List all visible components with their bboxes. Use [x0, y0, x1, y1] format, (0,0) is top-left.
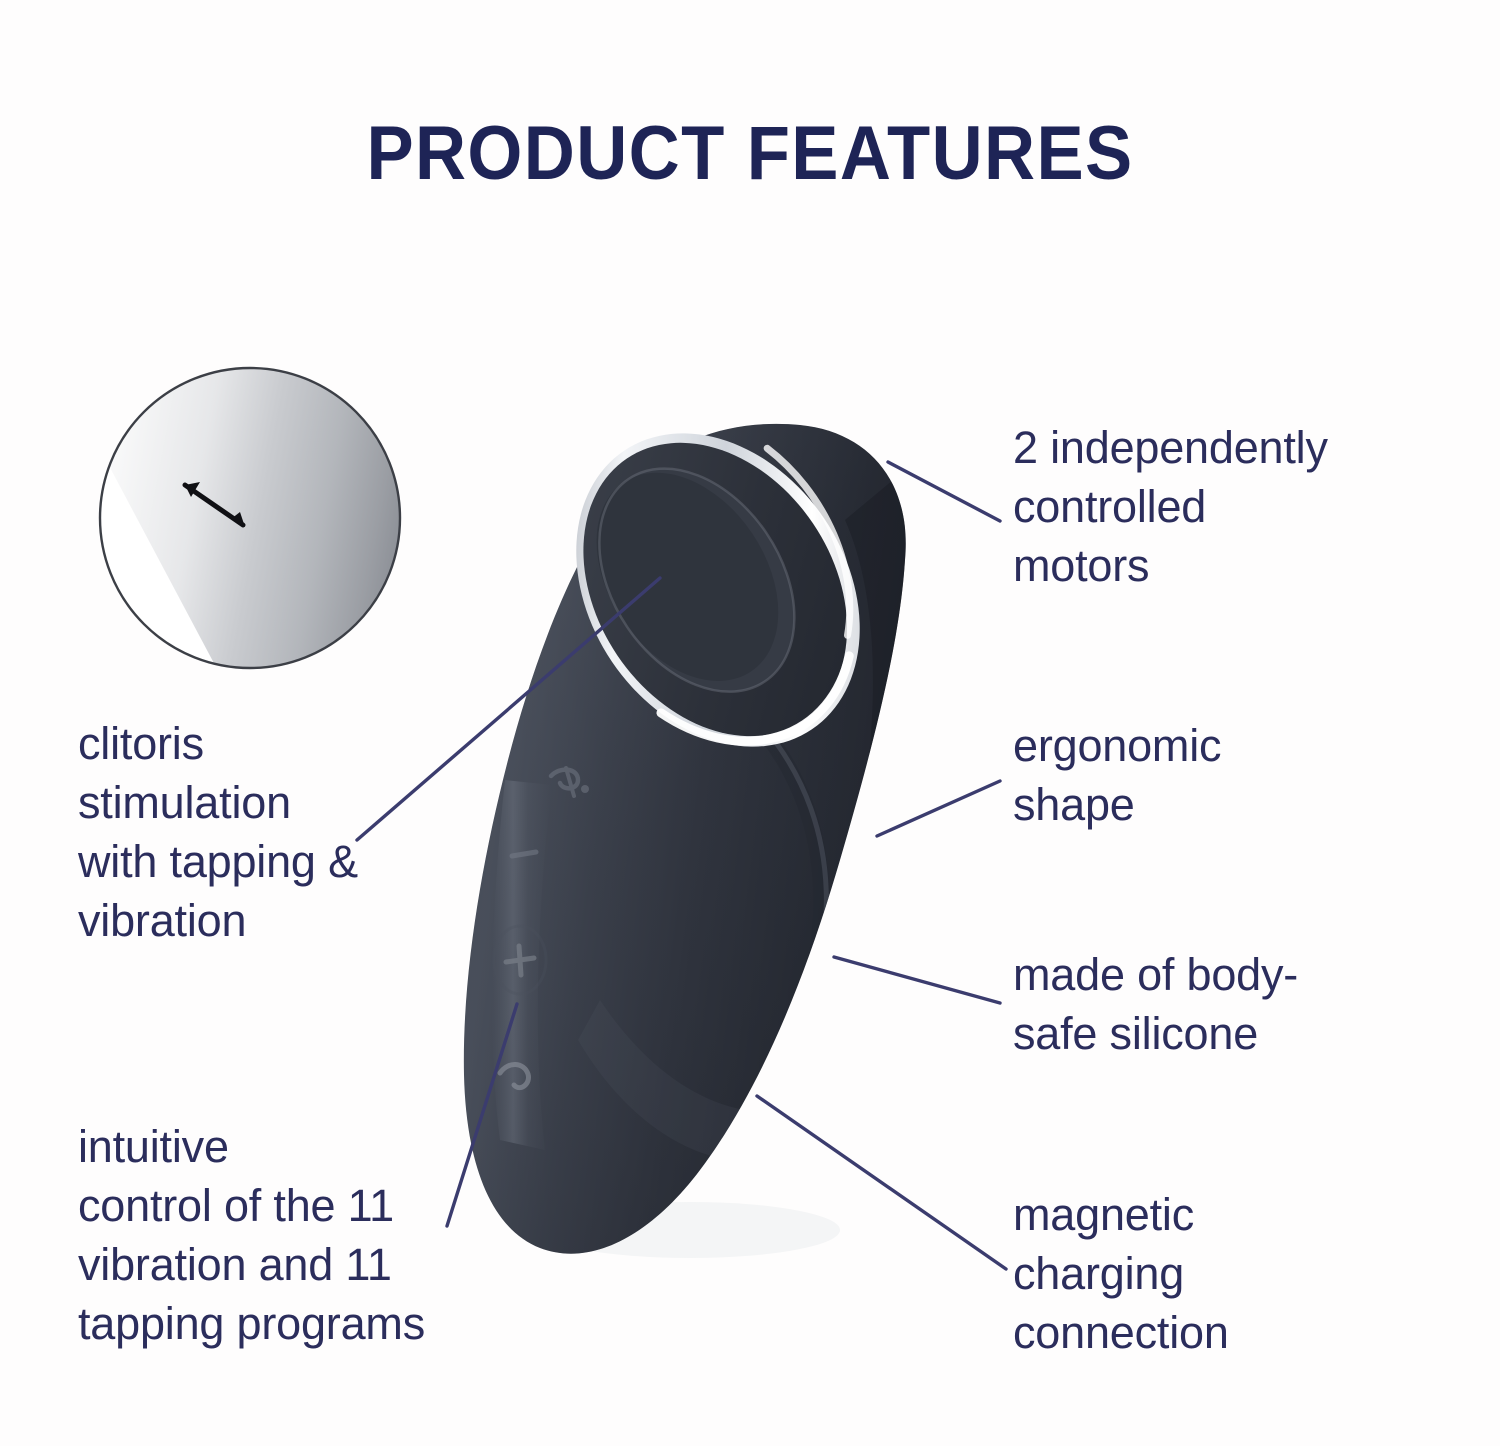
callout-intuitive-control: intuitive control of the 11 vibration an… — [78, 1117, 528, 1353]
callout-motors: 2 independently controlled motors — [1013, 418, 1413, 595]
leader-line-silicone — [834, 957, 1000, 1003]
callout-clitoris-stimulation: clitoris stimulation with tapping & vibr… — [78, 714, 478, 950]
product-body — [464, 378, 921, 1258]
callout-body-safe-silicone: made of body- safe silicone — [1013, 945, 1393, 1063]
callout-magnetic-charging: magnetic charging connection — [1013, 1185, 1393, 1362]
product-features-infographic: PRODUCT FEATURES — [0, 0, 1500, 1446]
leader-line-ergonomic — [877, 781, 1000, 836]
callout-ergonomic-shape: ergonomic shape — [1013, 716, 1393, 834]
leader-line-motors — [888, 462, 1000, 521]
